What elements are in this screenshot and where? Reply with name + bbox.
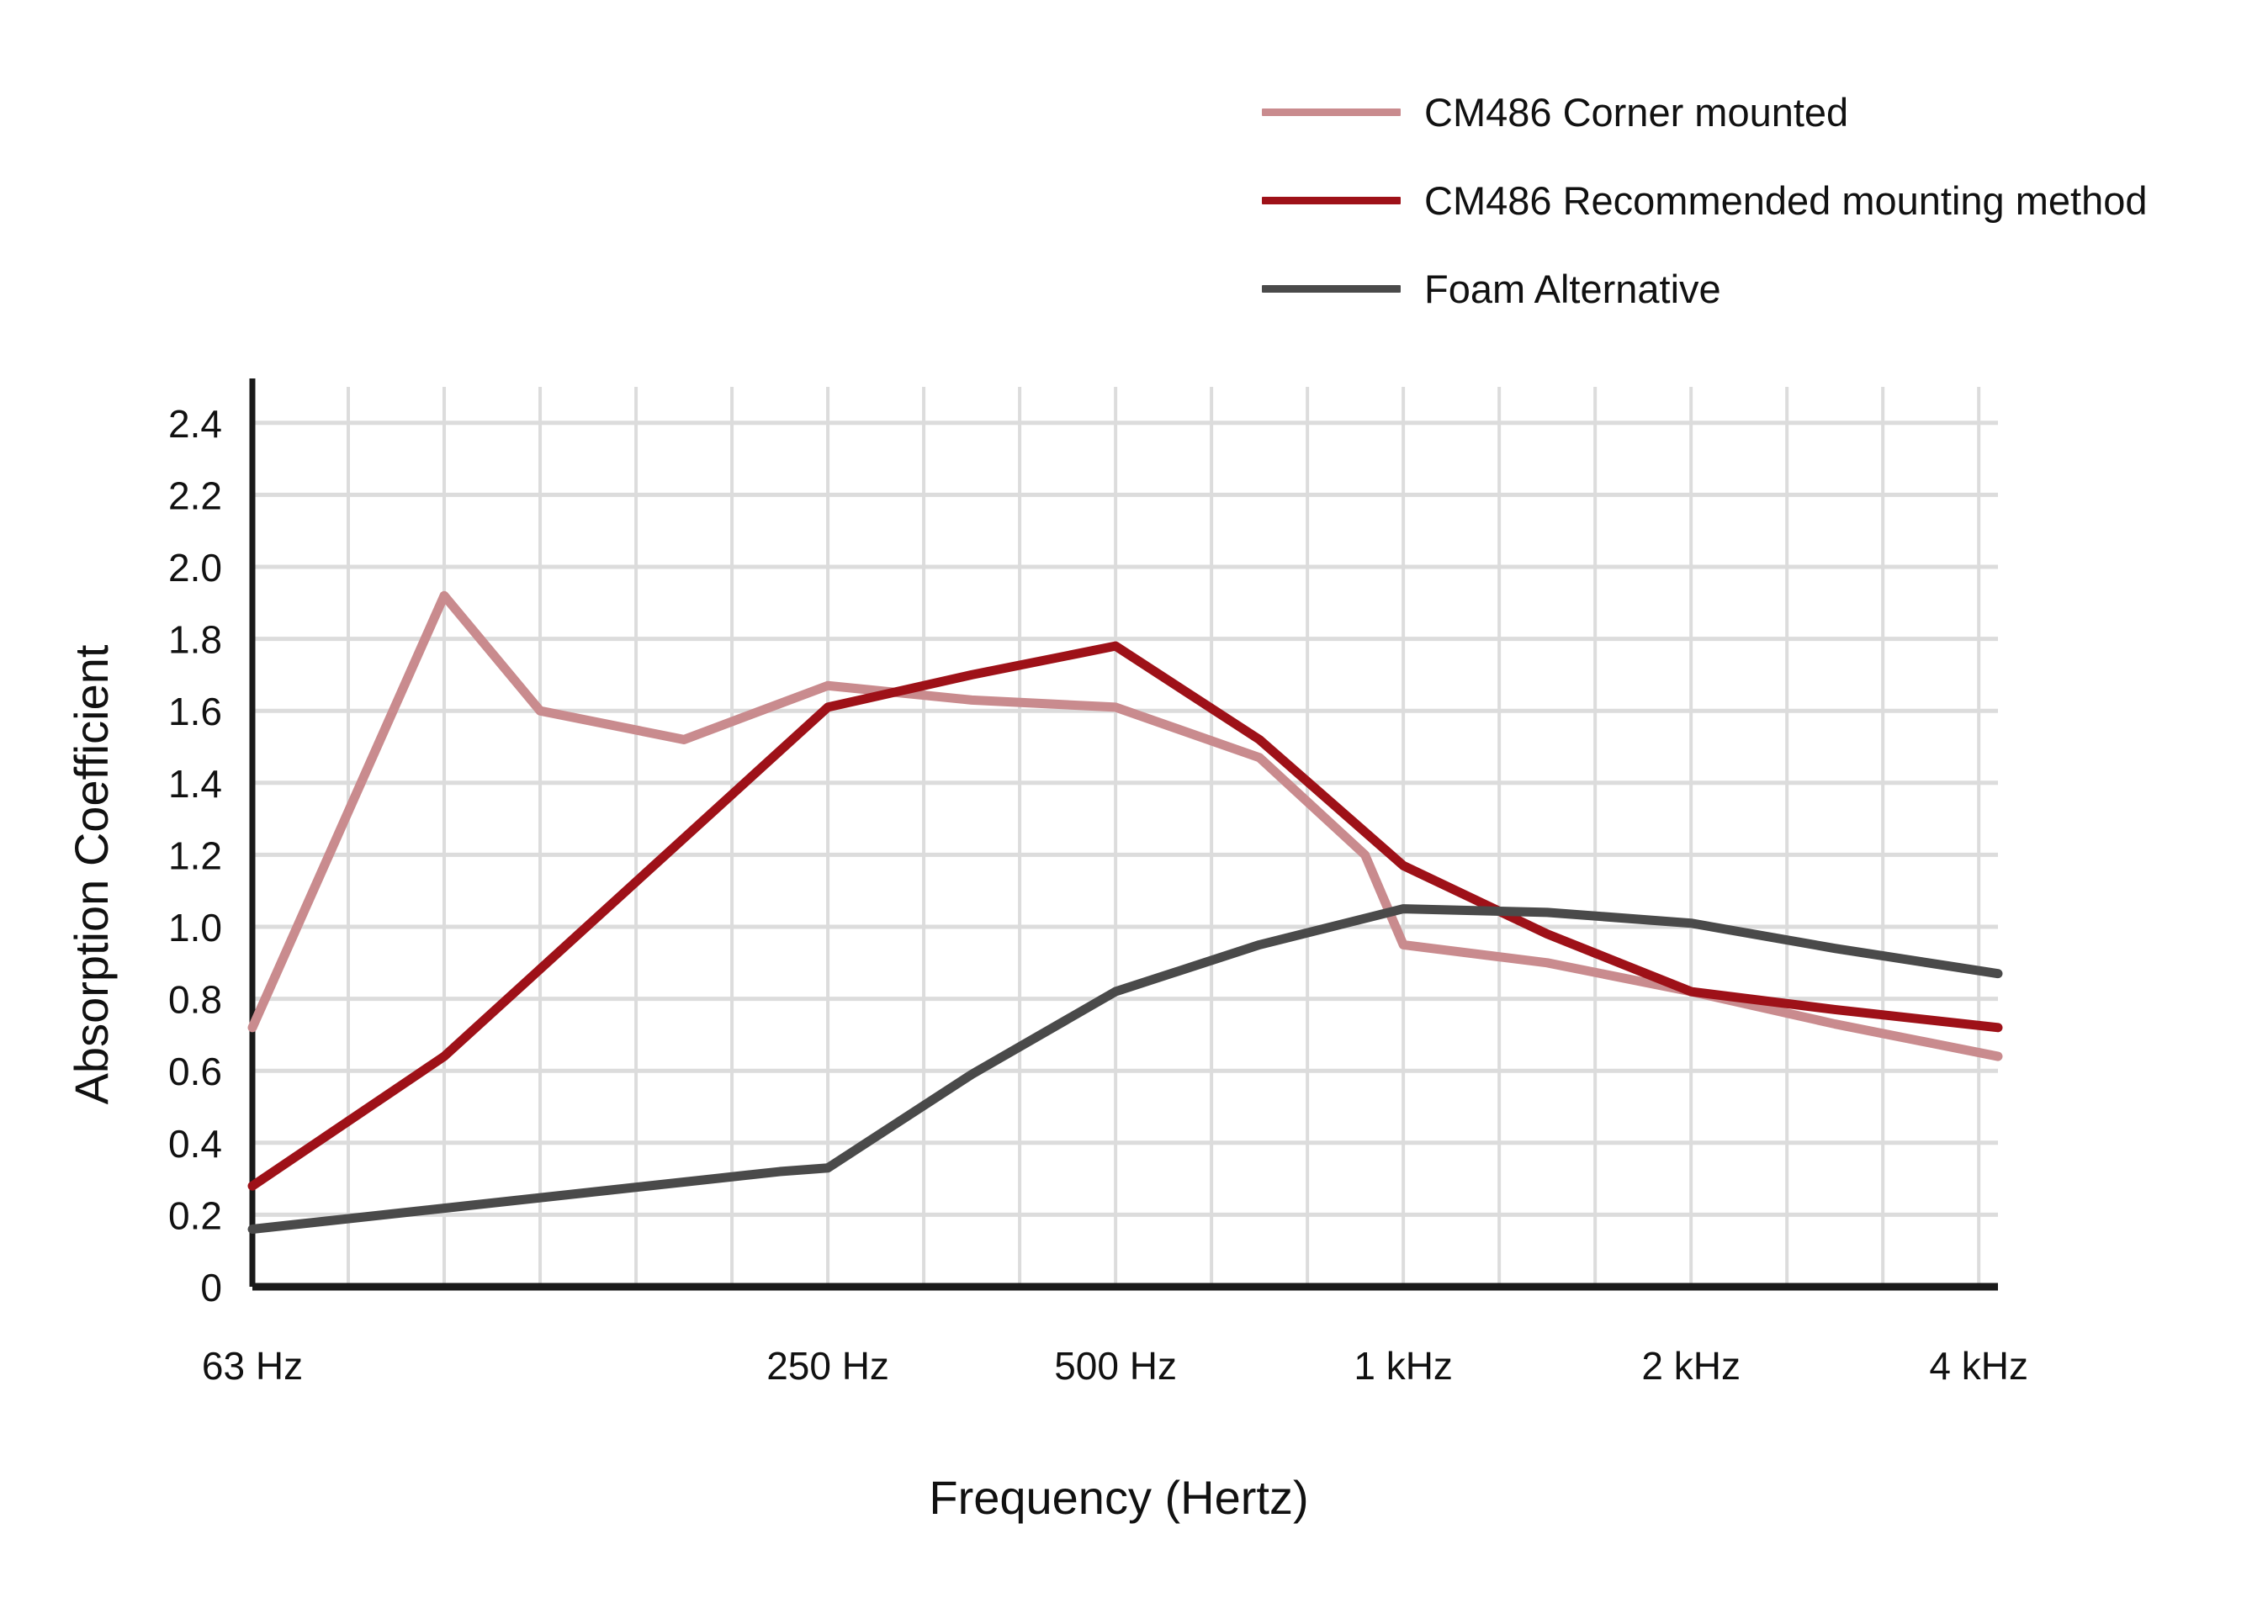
y-tick-label: 1.6 bbox=[168, 690, 222, 733]
x-tick-label: 63 Hz bbox=[202, 1344, 303, 1388]
y-tick-label: 0.4 bbox=[168, 1122, 222, 1166]
grid-lines bbox=[252, 387, 1998, 1287]
x-axis-title: Frequency (Hertz) bbox=[929, 1471, 1308, 1524]
line-chart: 00.20.40.60.81.01.21.41.61.82.02.22.4 63… bbox=[0, 0, 2268, 1624]
x-tick-label: 4 kHz bbox=[1929, 1344, 2028, 1388]
y-tick-label: 1.2 bbox=[168, 833, 222, 877]
data-series bbox=[252, 595, 1998, 1229]
y-tick-label: 0.8 bbox=[168, 978, 222, 1022]
y-tick-label: 1.0 bbox=[168, 906, 222, 950]
y-tick-label: 2.4 bbox=[168, 402, 222, 446]
x-tick-label: 2 kHz bbox=[1641, 1344, 1741, 1388]
y-tick-label: 1.4 bbox=[168, 762, 222, 806]
y-tick-label: 2.2 bbox=[168, 473, 222, 517]
axis-lines bbox=[252, 378, 1998, 1287]
y-tick-label: 0 bbox=[200, 1266, 222, 1309]
chart-area: 00.20.40.60.81.01.21.41.61.82.02.22.4 63… bbox=[0, 0, 2268, 1624]
x-tick-labels: 63 Hz250 Hz500 Hz1 kHz2 kHz4 kHz bbox=[202, 1344, 2028, 1388]
y-tick-labels: 00.20.40.60.81.01.21.41.61.82.02.22.4 bbox=[168, 402, 222, 1309]
y-tick-label: 0.2 bbox=[168, 1193, 222, 1237]
y-tick-label: 2.0 bbox=[168, 546, 222, 590]
y-tick-label: 0.6 bbox=[168, 1050, 222, 1093]
y-tick-label: 1.8 bbox=[168, 618, 222, 662]
x-tick-label: 1 kHz bbox=[1354, 1344, 1453, 1388]
series-line bbox=[252, 646, 1998, 1186]
y-axis-title: Absorption Coefficient bbox=[65, 644, 118, 1104]
x-tick-label: 500 Hz bbox=[1054, 1344, 1177, 1388]
x-tick-label: 250 Hz bbox=[766, 1344, 889, 1388]
